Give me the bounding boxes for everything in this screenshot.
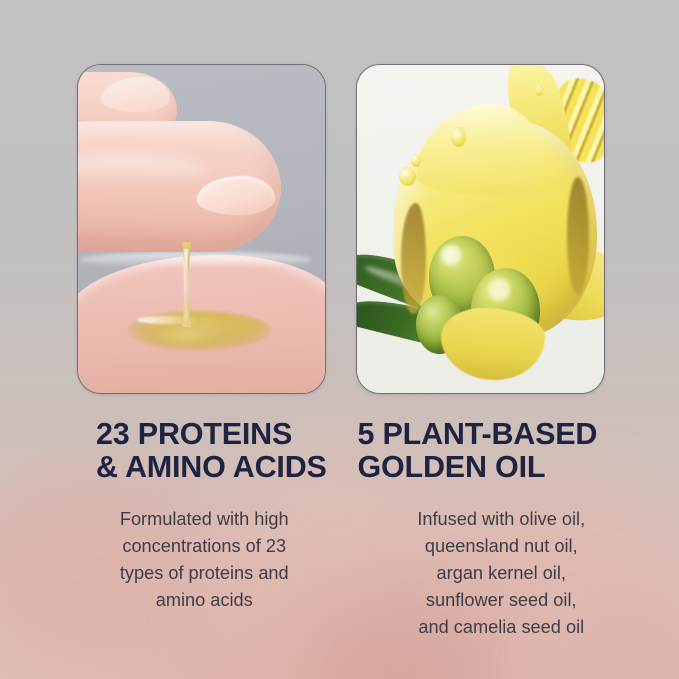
product-feature-panel: 23 PROTEINS & AMINO ACIDS Formulated wit…	[0, 0, 679, 679]
olive-oil-splash-photo	[356, 64, 605, 394]
feature-column-golden-oil: 5 PLANT-BASED GOLDEN OIL Infused with ol…	[340, 418, 679, 641]
upper-fingernail	[101, 77, 170, 112]
oil-splash-shadow-edge	[567, 177, 589, 295]
finger-highlight	[78, 155, 207, 184]
oil-droplet	[451, 127, 466, 147]
photo-frame-left	[78, 65, 325, 393]
oil-film-glow	[421, 222, 549, 360]
index-finger	[78, 121, 281, 252]
fingertip-oil-drip-photo	[77, 64, 326, 394]
feature-body-proteins: Formulated with high concentrations of 2…	[97, 506, 328, 614]
oil-droplet	[411, 154, 421, 167]
feature-column-proteins: 23 PROTEINS & AMINO ACIDS Formulated wit…	[0, 418, 340, 641]
oil-strand-highlight	[184, 249, 188, 321]
fingernail	[197, 176, 276, 215]
oil-droplet	[535, 85, 543, 96]
photo-frame-right	[357, 65, 604, 393]
feature-headline-golden-oil: 5 PLANT-BASED GOLDEN OIL	[358, 418, 668, 484]
feature-headline-proteins: 23 PROTEINS & AMINO ACIDS	[96, 418, 328, 484]
feature-body-golden-oil: Infused with olive oil, queensland nut o…	[358, 506, 668, 641]
feature-text-columns: 23 PROTEINS & AMINO ACIDS Formulated wit…	[0, 418, 679, 641]
